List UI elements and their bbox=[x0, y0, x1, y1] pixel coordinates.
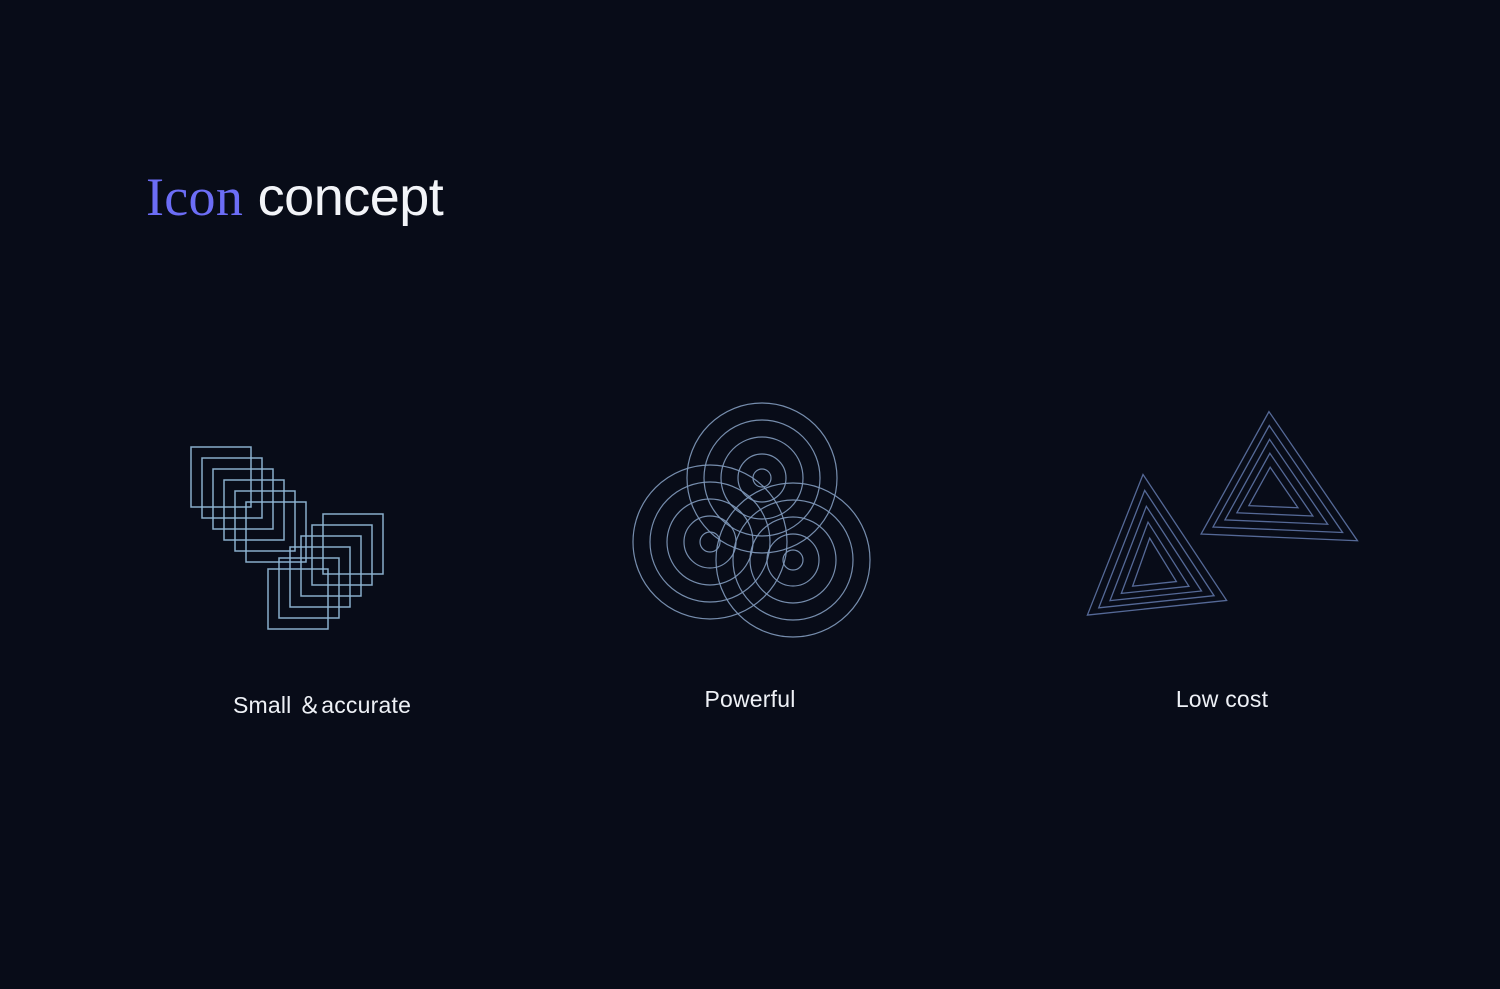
slide-canvas: Icon concept bbox=[0, 0, 1500, 989]
icon-card-powerful: Powerful bbox=[580, 390, 920, 750]
nested-triangles-icon bbox=[1052, 390, 1392, 660]
icon-card-low-cost: Low cost bbox=[1052, 390, 1392, 750]
icon-concept-row: Small ＆accurate bbox=[0, 390, 1500, 750]
concentric-circles-icon bbox=[580, 390, 920, 660]
icon-caption-small-accurate: Small ＆accurate bbox=[152, 686, 492, 720]
icon-caption-powerful: Powerful bbox=[580, 686, 920, 713]
overlapping-squares-icon bbox=[152, 390, 492, 660]
icon-card-small-accurate: Small ＆accurate bbox=[152, 390, 492, 750]
icon-caption-low-cost: Low cost bbox=[1052, 686, 1392, 713]
page-title-main: concept bbox=[243, 167, 443, 227]
page-title: Icon concept bbox=[146, 170, 443, 224]
page-title-accent: Icon bbox=[146, 167, 243, 227]
